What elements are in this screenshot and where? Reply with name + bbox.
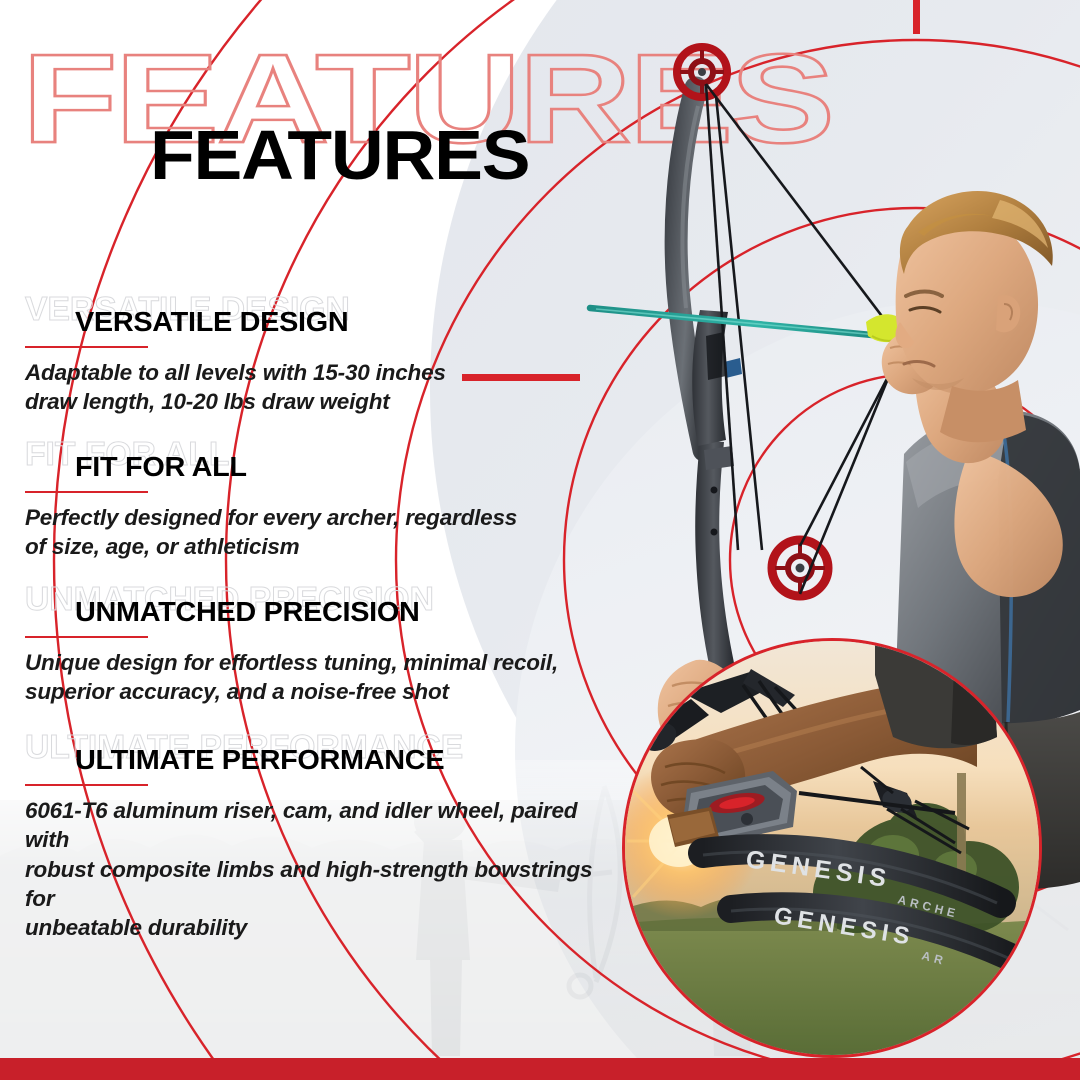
feature-heading: VERSATILE DESIGN — [75, 308, 348, 336]
feature-underline-rule — [25, 784, 148, 786]
inset-illustration: GENESIS ARCHE GENESIS AR — [625, 641, 1042, 1058]
bottom-red-bar — [0, 1058, 1080, 1080]
crosshair-tick-left — [462, 374, 580, 381]
feature-body-text: Adaptable to all levels with 15-30 inche… — [25, 358, 625, 417]
product-closeup-inset: GENESIS ARCHE GENESIS AR — [622, 638, 1042, 1058]
infographic-canvas: FEATURES FEATURES — [0, 0, 1080, 1080]
feature-underline-rule — [25, 346, 148, 348]
feature-heading: FIT FOR ALL — [75, 453, 247, 481]
feature-body-text: 6061-T6 aluminum riser, cam, and idler w… — [25, 796, 625, 942]
feature-underline-rule — [25, 636, 148, 638]
page-title: FEATURES — [150, 122, 529, 191]
feature-underline-rule — [25, 491, 148, 493]
feature-heading: UNMATCHED PRECISION — [75, 598, 420, 626]
feature-body-text: Unique design for effortless tuning, min… — [25, 648, 625, 707]
feature-heading: ULTIMATE PERFORMANCE — [75, 746, 444, 774]
feature-body-text: Perfectly designed for every archer, reg… — [25, 503, 625, 562]
crosshair-tick-top — [913, 0, 920, 34]
